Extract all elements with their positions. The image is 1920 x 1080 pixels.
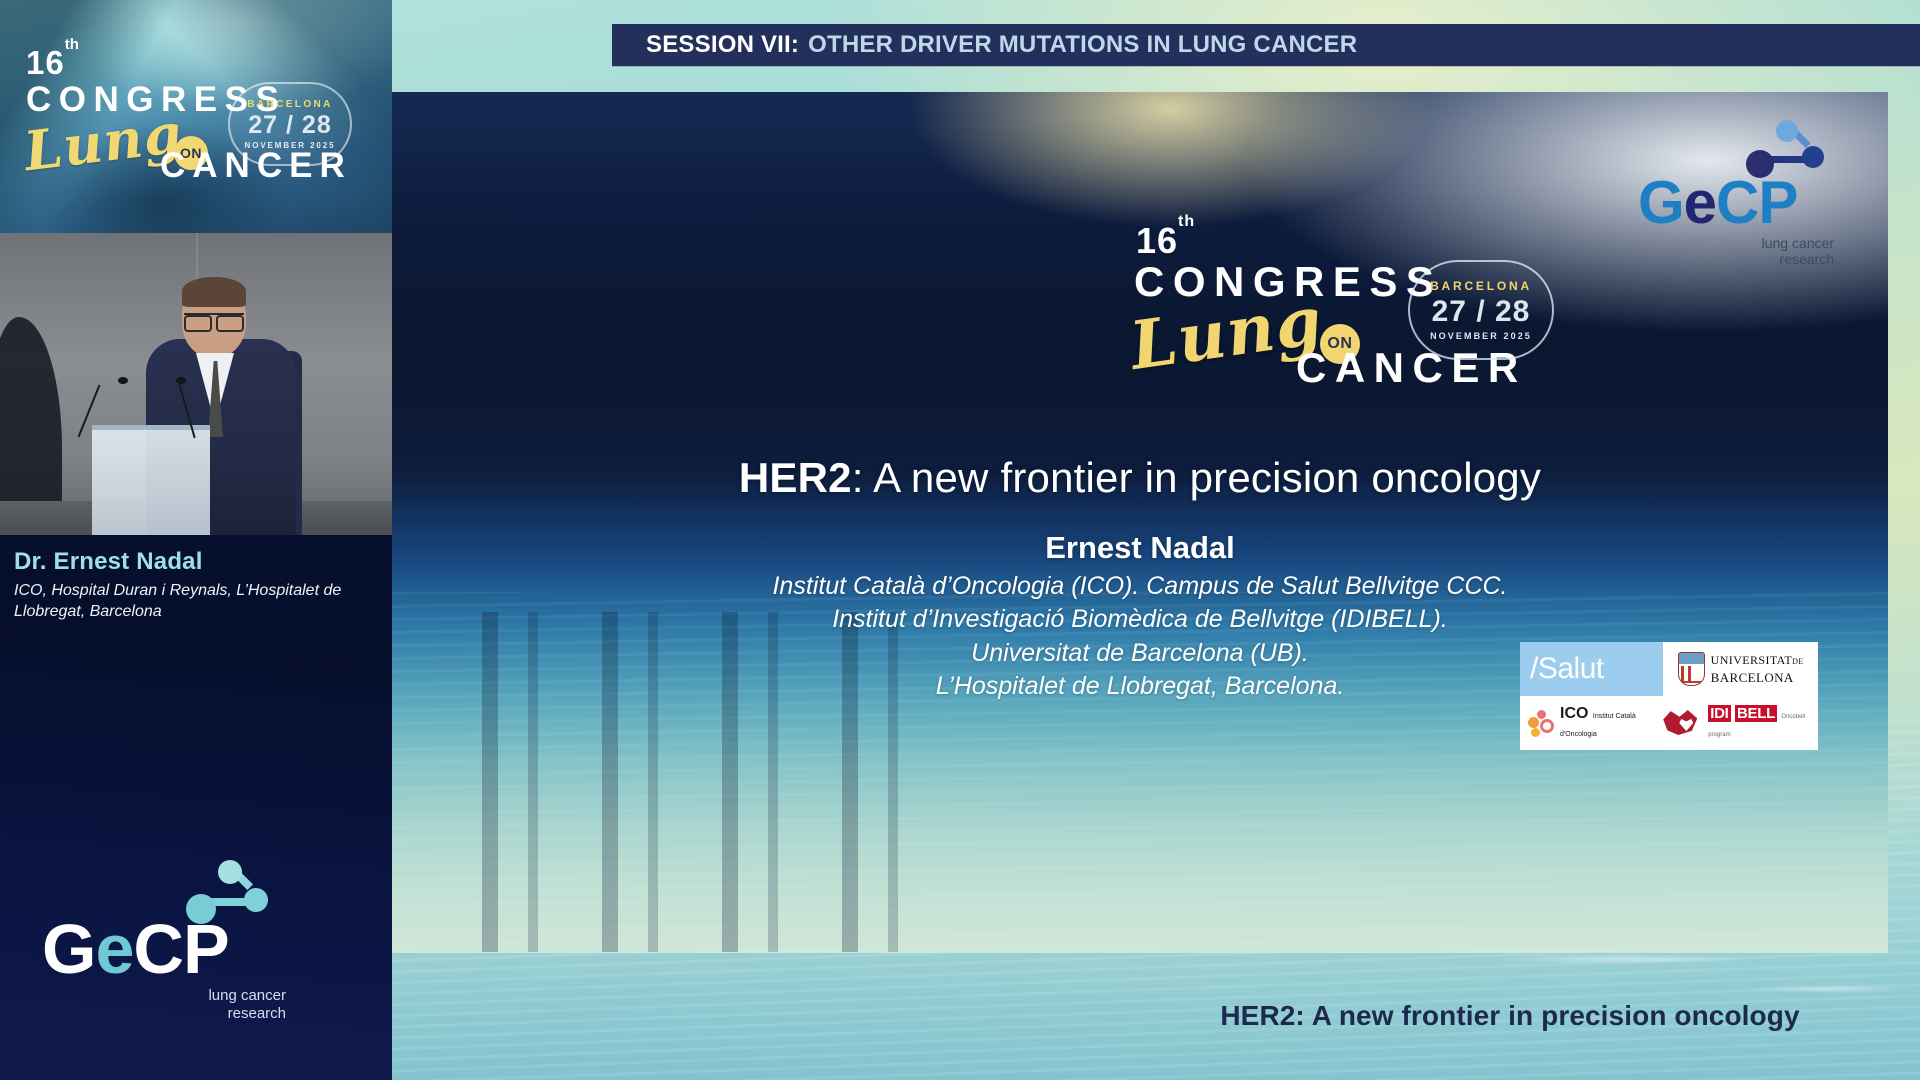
speaker-info: Dr. Ernest Nadal ICO, Hospital Duran i R… bbox=[14, 548, 374, 623]
molecule-icon bbox=[178, 860, 292, 916]
salut-logo: /Salut bbox=[1520, 642, 1663, 696]
ico-circles-icon bbox=[1528, 710, 1554, 736]
slide-tree-silhouettes-left bbox=[392, 92, 862, 382]
ub-line-1: UNIVERSITATDE bbox=[1711, 653, 1804, 667]
ub-crest-icon bbox=[1678, 652, 1705, 686]
gecp-wordmark: GeCP bbox=[1638, 174, 1838, 232]
session-label: SESSION VII: bbox=[646, 31, 799, 59]
speaker-glasses bbox=[184, 313, 244, 326]
badge-city: BARCELONA bbox=[1430, 279, 1532, 293]
affiliation-line: Institut Català d’Oncologia (ICO). Campu… bbox=[392, 570, 1888, 603]
ico-wordmark: ICO Institut Català d'Oncologia bbox=[1560, 705, 1663, 741]
molecule-icon bbox=[1742, 120, 1838, 174]
idibell-logo: IDI BELL Oncobell program bbox=[1663, 696, 1818, 750]
gecp-subtitle: lung cancer research bbox=[42, 987, 292, 1023]
salut-label: /Salut bbox=[1530, 652, 1604, 686]
speaker-name: Dr. Ernest Nadal bbox=[14, 548, 374, 576]
sidebar-congress-logo: 16th CONGRESS Lung ON CANCER BARCELONA 2… bbox=[0, 0, 392, 233]
session-banner: SESSION VII: OTHER DRIVER MUTATIONS IN L… bbox=[612, 24, 1920, 66]
gecp-subtitle-line1: lung cancer bbox=[42, 987, 286, 1005]
molecule-node-3 bbox=[186, 894, 216, 924]
affiliation-line: Institut d’Investigació Biomèdica de Bel… bbox=[392, 603, 1888, 636]
idibell-heart-icon bbox=[1663, 707, 1703, 739]
congress-date-badge: BARCELONA 27 / 28 NOVEMBER 2025 bbox=[228, 82, 352, 166]
badge-month: NOVEMBER 2025 bbox=[1430, 331, 1532, 341]
slide-gecp-logo: GeCP lung cancer research bbox=[1638, 120, 1838, 268]
gecp-subtitle: lung cancer research bbox=[1638, 235, 1838, 268]
gecp-letters-cp: CP bbox=[133, 910, 228, 988]
slide-title-bold: HER2 bbox=[739, 454, 852, 501]
congress-edition: 16th bbox=[26, 44, 79, 82]
slide-author-name: Ernest Nadal bbox=[392, 530, 1888, 566]
gecp-subtitle-line1: lung cancer bbox=[1638, 235, 1834, 252]
presentation-slide[interactable]: GeCP lung cancer research 16th CONGRESS … bbox=[392, 92, 1888, 953]
badge-city: BARCELONA bbox=[247, 99, 333, 110]
idibell-line-1: IDI bbox=[1708, 705, 1730, 722]
gecp-letter-e: e bbox=[95, 910, 133, 988]
footer-presentation-title: HER2: A new frontier in precision oncolo… bbox=[1160, 1000, 1860, 1032]
molecule-node-1 bbox=[1776, 120, 1798, 142]
institution-logo-block: /Salut UNIVERSITATDE BARCELONA ICO Insti… bbox=[1520, 642, 1818, 750]
slide-congress-logo: 16th CONGRESS Lung ON CANCER BARCELONA 2… bbox=[1092, 220, 1562, 420]
gecp-letter-g: G bbox=[1638, 169, 1684, 236]
gecp-letter-e: e bbox=[1684, 169, 1716, 236]
molecule-node-2 bbox=[244, 888, 268, 912]
gecp-letters-cp: CP bbox=[1716, 169, 1797, 236]
gecp-subtitle-line2: research bbox=[1638, 251, 1834, 268]
idibell-line-2: BELL bbox=[1735, 705, 1777, 722]
molecule-node-1 bbox=[218, 860, 242, 884]
microphone-head-left bbox=[118, 377, 128, 384]
gecp-wordmark: GeCP bbox=[42, 916, 292, 983]
microphone-head-right bbox=[176, 377, 186, 384]
gecp-letter-g: G bbox=[42, 910, 95, 988]
congress-date-badge: BARCELONA 27 / 28 NOVEMBER 2025 bbox=[1408, 260, 1554, 360]
badge-dates: 27 / 28 bbox=[1432, 295, 1531, 329]
universitat-barcelona-logo: UNIVERSITATDE BARCELONA bbox=[1663, 642, 1818, 696]
idibell-wordmark: IDI BELL Oncobell program bbox=[1708, 705, 1818, 741]
ub-line-2: BARCELONA bbox=[1711, 670, 1794, 685]
sidebar-gecp-logo: GeCP lung cancer research bbox=[42, 860, 292, 1023]
gecp-subtitle-line2: research bbox=[42, 1005, 286, 1023]
molecule-node-3 bbox=[1746, 150, 1774, 178]
sidebar: 16th CONGRESS Lung ON CANCER BARCELONA 2… bbox=[0, 0, 392, 1080]
podium bbox=[92, 425, 210, 535]
slide-title: HER2: A new frontier in precision oncolo… bbox=[392, 454, 1888, 502]
session-topic: OTHER DRIVER MUTATIONS IN LUNG CANCER bbox=[808, 31, 1357, 59]
badge-dates: 27 / 28 bbox=[248, 111, 331, 140]
molecule-node-2 bbox=[1802, 146, 1824, 168]
speaker-hair bbox=[182, 277, 246, 307]
badge-month: NOVEMBER 2025 bbox=[245, 141, 336, 150]
congress-edition: 16th bbox=[1136, 220, 1195, 262]
speaker-video-feed[interactable] bbox=[0, 233, 392, 535]
ico-name: ICO bbox=[1560, 705, 1588, 722]
ub-wordmark: UNIVERSITATDE BARCELONA bbox=[1711, 651, 1804, 687]
speaker-affiliation: ICO, Hospital Duran i Reynals, L’Hospita… bbox=[14, 580, 374, 623]
slide-title-rest: : A new frontier in precision oncology bbox=[852, 454, 1541, 501]
ico-logo: ICO Institut Català d'Oncologia bbox=[1520, 696, 1663, 750]
